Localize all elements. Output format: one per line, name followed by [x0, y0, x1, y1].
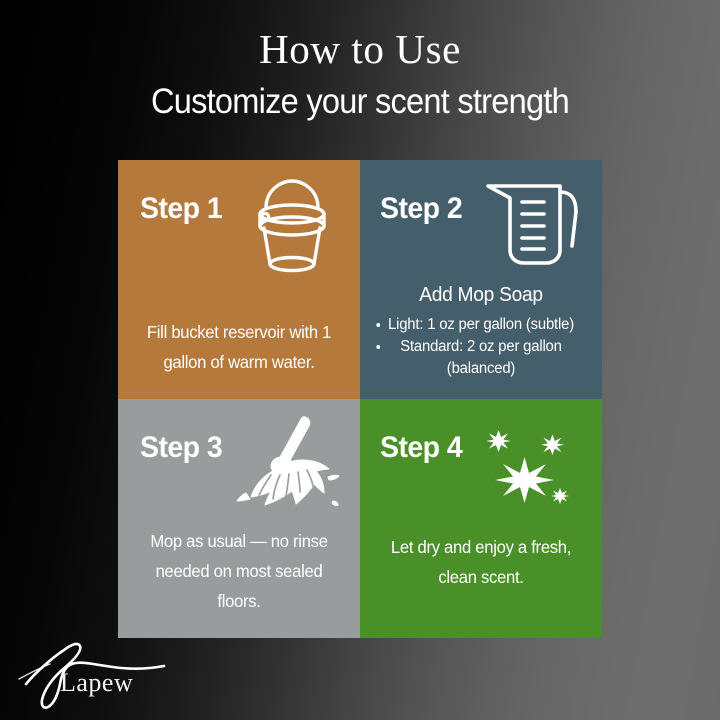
step-panel-1: Step 1 Fill bucket reservoir with 1 gall… [118, 160, 360, 399]
step-4-label: Step 4 [380, 431, 462, 465]
logo-wordmark: Lapew [60, 668, 133, 698]
step-2-subheading: Add Mop Soap [374, 282, 587, 308]
infographic-canvas: How to Use Customize your scent strength… [0, 0, 720, 720]
heading-block: How to Use Customize your scent strength [0, 24, 720, 124]
step-2-bullet-list: Light: 1 oz per gallon (subtle) Standard… [368, 314, 594, 380]
bucket-icon [232, 172, 350, 276]
list-item: Standard: 2 oz per gallon (balanced) [373, 336, 590, 380]
bullet-text: Light: 1 oz per gallon (subtle) [388, 316, 574, 333]
steps-grid: Step 1 Fill bucket reservoir with 1 gall… [118, 160, 602, 638]
step-panel-2: Step 2 Add Mop Soap Light: 1 oz per gall… [360, 160, 602, 399]
mop-icon [232, 411, 350, 515]
step-panel-4: Step 4 Let dry and enjoy a fresh, clean … [360, 399, 602, 638]
page-title: How to Use [0, 24, 720, 74]
step-3-body: Mop as usual — no rinse needed on most s… [135, 526, 342, 616]
step-1-body: Fill bucket reservoir with 1 gallon of w… [135, 317, 342, 377]
list-item: Light: 1 oz per gallon (subtle) [373, 314, 590, 336]
step-4-body: Let dry and enjoy a fresh, clean scent. [377, 532, 584, 592]
step-3-label: Step 3 [140, 431, 222, 465]
bullet-dot-icon [376, 323, 380, 327]
step-1-label: Step 1 [140, 192, 222, 226]
bullet-text: Standard: 2 oz per gallon (balanced) [400, 338, 561, 377]
page-subtitle: Customize your scent strength [25, 80, 695, 124]
bullet-dot-icon [376, 345, 380, 349]
step-2-label: Step 2 [380, 192, 462, 226]
measuring-cup-icon [474, 172, 592, 276]
step-panel-3: Step 3 [118, 399, 360, 638]
brand-logo: Lapew [14, 634, 184, 712]
sparkles-icon [474, 411, 592, 515]
